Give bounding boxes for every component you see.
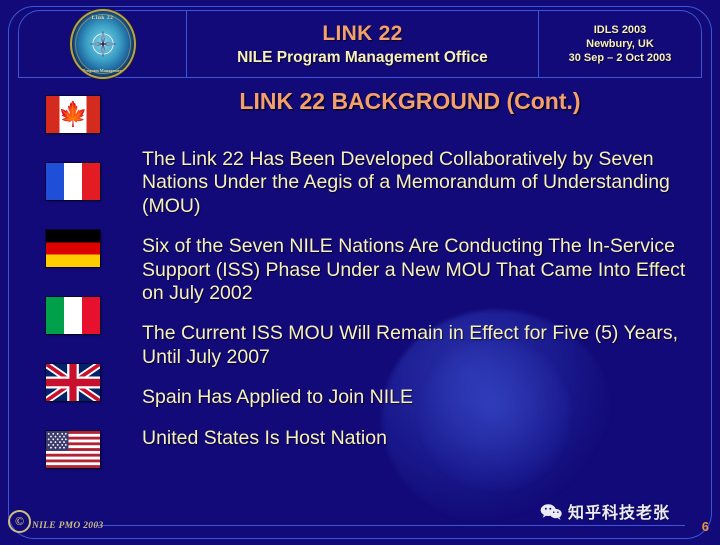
header-logo-cell: Link 22 NILE Program Management Office <box>19 11 186 77</box>
footer-divider <box>95 525 685 526</box>
bullet-item: Spain Has Applied to Join NILE <box>142 386 698 409</box>
page-number: 6 <box>702 519 709 534</box>
header-event-meta: IDLS 2003 Newbury, UK 30 Sep – 2 Oct 200… <box>539 11 701 77</box>
wechat-icon <box>540 503 562 520</box>
wechat-watermark: 知乎科技老张 <box>540 499 670 523</box>
nations-flag-column: 🍁 <box>46 96 102 498</box>
header-title-primary: LINK 22 <box>322 22 402 46</box>
flag-united-states-icon <box>46 431 100 468</box>
slide-body-bullets: The Link 22 Has Been Developed Collabora… <box>142 148 698 467</box>
event-name: IDLS 2003 <box>594 24 647 36</box>
bullet-item: Six of the Seven NILE Nations Are Conduc… <box>142 235 698 305</box>
watermark-text: 知乎科技老张 <box>568 499 670 523</box>
flag-germany-icon <box>46 230 100 267</box>
event-location: Newbury, UK <box>586 38 654 50</box>
nile-pmo-seal-icon: Link 22 NILE Program Management Office <box>70 9 136 79</box>
seal-top-label: Link 22 <box>72 15 134 21</box>
bullet-item: The Link 22 Has Been Developed Collabora… <box>142 148 698 218</box>
copyright-icon: © <box>8 510 31 533</box>
flag-italy-icon <box>46 297 100 334</box>
nato-compass-star-icon <box>88 29 118 59</box>
slide-header: Link 22 NILE Program Management Office L… <box>18 10 702 78</box>
header-title-cell: LINK 22 NILE Program Management Office <box>187 11 538 77</box>
flag-canada-icon: 🍁 <box>46 96 100 133</box>
flag-france-icon <box>46 163 100 200</box>
presentation-slide: Link 22 NILE Program Management Office L… <box>0 0 720 545</box>
seal-bottom-label: NILE Program Management Office <box>72 68 134 73</box>
bullet-item: The Current ISS MOU Will Remain in Effec… <box>142 322 698 369</box>
bullet-item: United States Is Host Nation <box>142 427 698 450</box>
event-dates: 30 Sep – 2 Oct 2003 <box>569 52 672 64</box>
header-title-secondary: NILE Program Management Office <box>237 49 488 67</box>
slide-title: LINK 22 BACKGROUND (Cont.) <box>130 88 690 115</box>
flag-united-kingdom-icon <box>46 364 100 401</box>
maple-leaf-glyph: 🍁 <box>58 103 88 127</box>
copyright-text: NILE PMO 2003 <box>32 521 103 531</box>
